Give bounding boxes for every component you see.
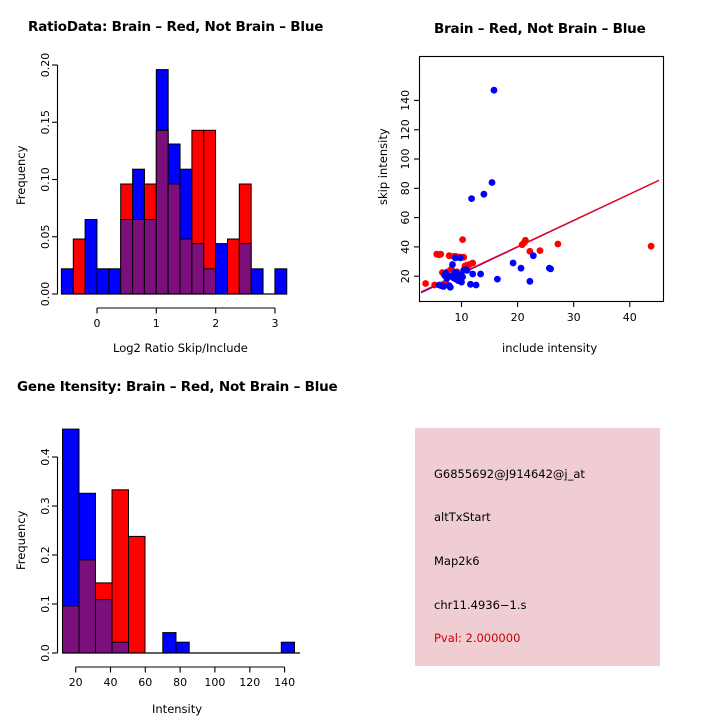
ratio-histogram-panel: RatioData: Brain – Red, Not Brain – Blue… — [0, 0, 360, 360]
svg-text:0.20: 0.20 — [39, 53, 52, 78]
svg-text:0: 0 — [94, 317, 101, 330]
svg-text:80: 80 — [399, 181, 412, 195]
gene-y-ticklabels: 0.0 0.1 0.2 0.3 0.4 — [39, 448, 52, 662]
svg-text:0.00: 0.00 — [39, 282, 52, 307]
svg-text:40: 40 — [623, 311, 637, 324]
svg-text:120: 120 — [399, 119, 412, 140]
svg-text:1: 1 — [153, 317, 160, 330]
svg-text:140: 140 — [274, 676, 295, 689]
gene-histogram-panel: Gene Itensity: Brain – Red, Not Brain – … — [0, 360, 360, 720]
svg-text:0.3: 0.3 — [39, 497, 52, 515]
svg-text:140: 140 — [399, 90, 412, 111]
scatter-points-not-brain — [436, 87, 554, 291]
ratio-y-axis — [52, 65, 58, 294]
svg-text:120: 120 — [239, 676, 260, 689]
gene-bars — [62, 429, 300, 653]
svg-text:40: 40 — [104, 676, 118, 689]
svg-text:0.15: 0.15 — [39, 110, 52, 135]
svg-text:100: 100 — [204, 676, 225, 689]
scatter-plot-box — [420, 57, 664, 302]
svg-text:0.05: 0.05 — [39, 225, 52, 250]
gene-info-panel: G6855692@J914642@j_at altTxStart Map2k6 … — [415, 428, 660, 666]
svg-text:100: 100 — [399, 149, 412, 170]
svg-text:20: 20 — [511, 311, 525, 324]
svg-text:40: 40 — [399, 240, 412, 254]
svg-text:20: 20 — [399, 269, 412, 283]
svg-text:30: 30 — [567, 311, 581, 324]
gene-x-axis — [76, 667, 285, 673]
probe-id-text: G6855692@J914642@j_at — [434, 467, 585, 481]
svg-text:0.10: 0.10 — [39, 167, 52, 192]
gene-y-axis — [52, 457, 58, 653]
scatter-x-ticks — [462, 302, 630, 308]
scatter-panel: Brain – Red, Not Brain – Blue skip inten… — [360, 0, 720, 360]
svg-text:60: 60 — [399, 211, 412, 225]
scatter-y-ticks — [414, 100, 420, 276]
ratio-bars — [61, 70, 287, 294]
svg-text:0.4: 0.4 — [39, 448, 52, 466]
gene-symbol-text: Map2k6 — [434, 554, 480, 568]
ratio-x-ticklabels: 01 23 — [94, 317, 279, 330]
svg-text:2: 2 — [212, 317, 219, 330]
scatter-y-ticklabels: 20 40 60 80 100 120 140 — [399, 90, 412, 283]
event-type-text: altTxStart — [434, 510, 491, 524]
svg-text:80: 80 — [173, 676, 187, 689]
ratio-x-axis — [97, 308, 275, 314]
scatter-x-ticklabels: 1020 3040 — [455, 311, 637, 324]
ratio-y-ticklabels: 0.00 0.05 0.10 0.15 0.20 — [39, 53, 52, 307]
gene-x-ticklabels: 2040 6080 100120 140 — [69, 676, 295, 689]
gene-histogram-plot: 0.0 0.1 0.2 0.3 0.4 2040 6080 100120 140 — [0, 360, 360, 720]
locus-text: chr11.4936−1.s — [434, 598, 527, 612]
svg-text:0.0: 0.0 — [39, 644, 52, 662]
ratio-histogram-plot: 0.00 0.05 0.10 0.15 0.20 01 23 — [0, 0, 360, 360]
svg-text:3: 3 — [272, 317, 279, 330]
svg-text:0.2: 0.2 — [39, 546, 52, 564]
svg-text:10: 10 — [455, 311, 469, 324]
svg-text:20: 20 — [69, 676, 83, 689]
svg-text:60: 60 — [138, 676, 152, 689]
pval-text: Pval: 2.000000 — [434, 631, 520, 645]
svg-text:0.1: 0.1 — [39, 595, 52, 613]
scatter-plot: 20 40 60 80 100 120 140 1020 3040 — [360, 0, 720, 360]
